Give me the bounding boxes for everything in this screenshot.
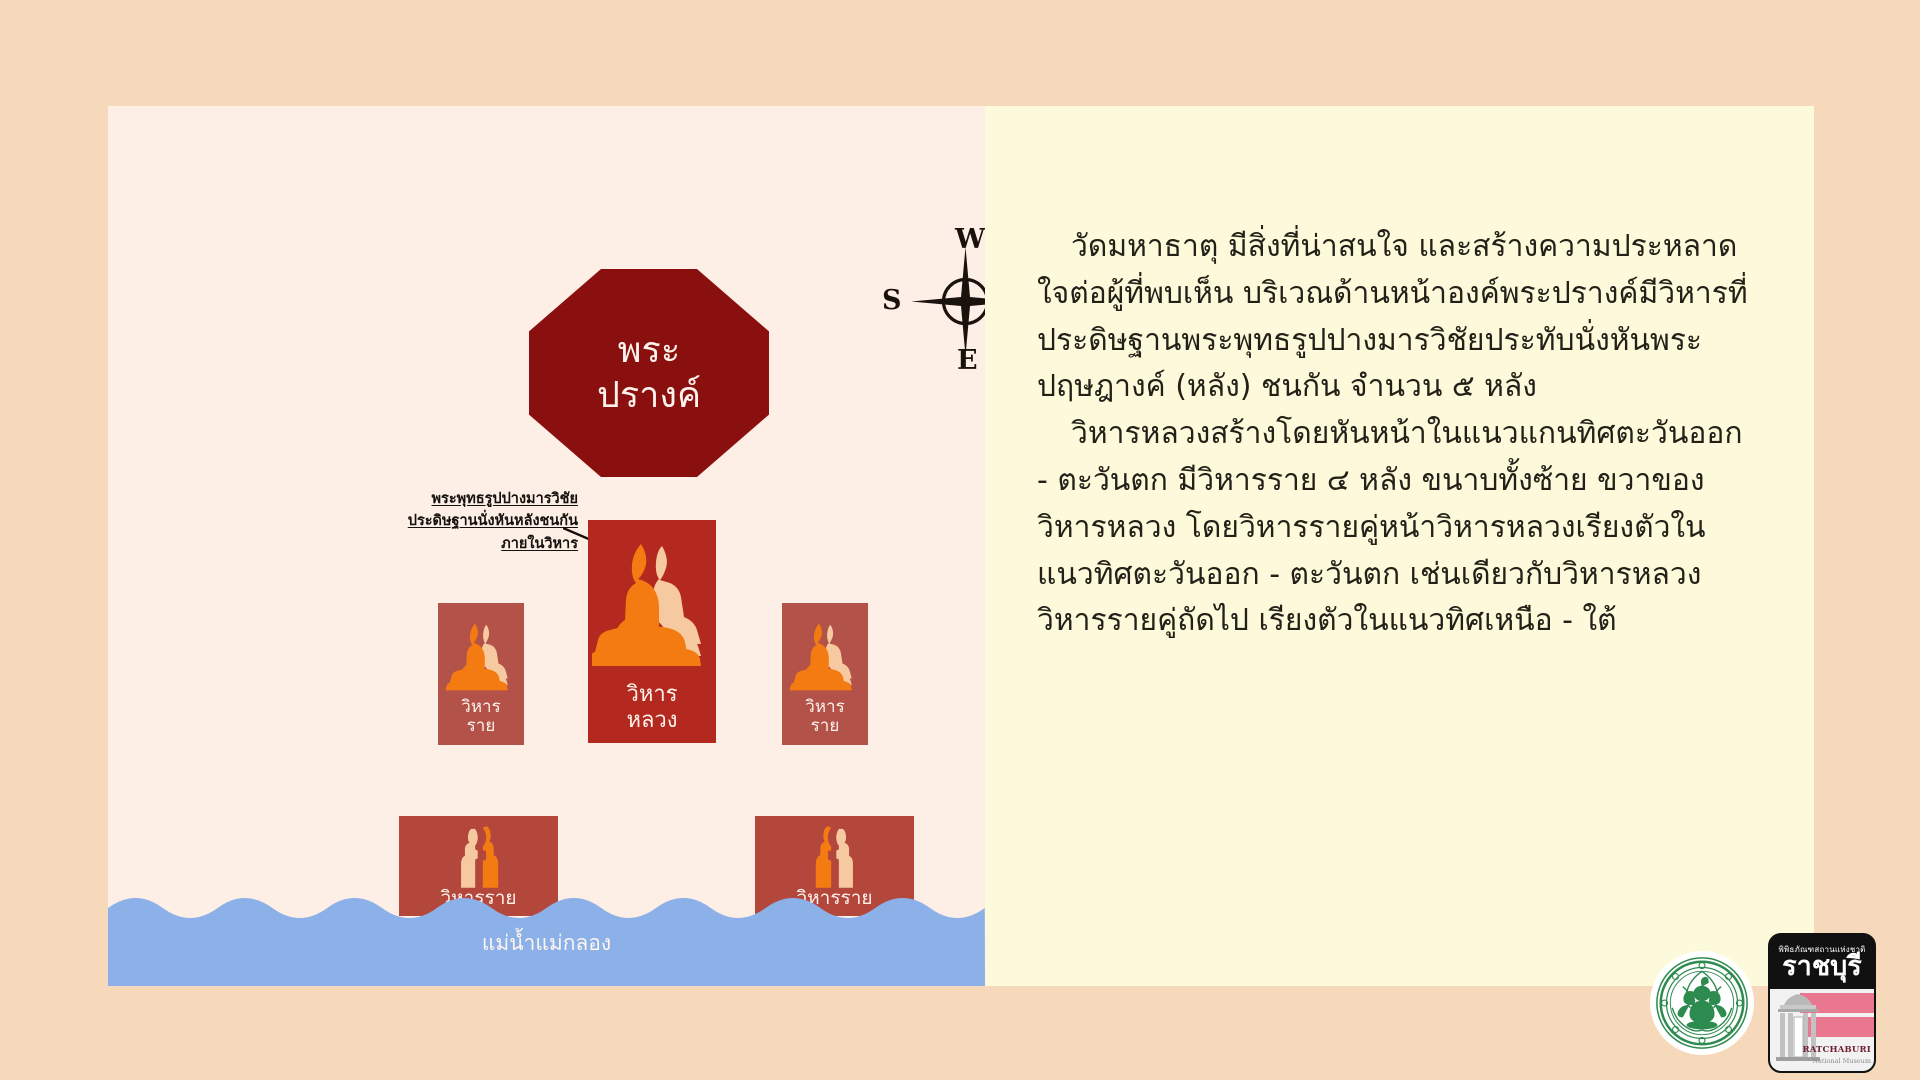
river-label: แม่น้ำแม่กลอง (108, 927, 985, 960)
compass-rose-icon: W S N E (903, 239, 985, 364)
museum-badge-artwork: RATCHABURI National Museum (1770, 989, 1874, 1071)
buddha-pair-standing-icon (399, 816, 558, 888)
vihara-rai-left-label-line1: วิหาร (461, 698, 500, 718)
slide-content: W S N E พระ ปรางค์ พระพุทธรูปปางมารวิชัย… (108, 106, 1814, 986)
paragraph-2: วิหารหลวงสร้างโดยหันหน้าในแนวแกนทิศตะวัน… (1037, 411, 1750, 645)
prang-label-line2: ปรางค์ (597, 373, 701, 418)
compass-label-bottom: E (957, 347, 978, 374)
vihara-rai-right-label: วิหาร ราย (805, 698, 844, 745)
ratchaburi-national-museum-badge: พิพิธภัณฑสถานแห่งชาติ ราชบุรี RATCHABURI (1768, 933, 1876, 1073)
vihara-rai-left-label-line2: ราย (461, 717, 500, 737)
vihara-rai-right-label-line2: ราย (805, 717, 844, 737)
vihara-luang-label: วิหาร หลวง (626, 682, 677, 743)
temple-plan-panel: W S N E พระ ปรางค์ พระพุทธรูปปางมารวิชัย… (108, 106, 985, 986)
annotation-line-1: พระพุทธรูปปางมารวิชัย (432, 491, 579, 507)
vihara-luang-label-line1: วิหาร (626, 682, 677, 707)
buddha-pair-seated-icon (782, 603, 868, 698)
building-vihara-rai-right: วิหาร ราย (782, 603, 868, 745)
vihara-rai-left-label: วิหาร ราย (461, 698, 500, 745)
buddha-annotation: พระพุทธรูปปางมารวิชัย ประดิษฐานนั่งหันหล… (363, 488, 578, 555)
vihara-rai-right-label-line1: วิหาร (805, 698, 844, 718)
compass-label-left: S (882, 287, 902, 314)
buddha-pair-seated-icon (588, 520, 716, 682)
annotation-line-3: ภายในวิหาร (501, 536, 578, 552)
building-vihara-luang: วิหาร หลวง (588, 520, 716, 743)
annotation-line-2: ประดิษฐานนั่งหันหลังชนกัน (408, 513, 578, 529)
description-text-panel: วัดมหาธาตุ มีสิ่งที่น่าสนใจ และสร้างความ… (985, 106, 1814, 986)
vihara-luang-label-line2: หลวง (626, 708, 677, 733)
compass-label-top: W (955, 226, 985, 253)
museum-thai-name: ราชบุรี (1782, 953, 1862, 981)
museum-english-subtitle: National Museum (1812, 1057, 1871, 1065)
fine-arts-department-emblem-icon (1650, 951, 1754, 1055)
building-vihara-rai-left: วิหาร ราย (438, 603, 524, 745)
buddha-pair-standing-icon (755, 816, 914, 888)
paragraph-1: วัดมหาธาตุ มีสิ่งที่น่าสนใจ และสร้างความ… (1037, 224, 1750, 411)
prang-octagon: พระ ปรางค์ (529, 269, 769, 477)
buddha-pair-seated-icon (438, 603, 524, 698)
museum-english-name: RATCHABURI (1802, 1045, 1871, 1055)
museum-badge-header: พิพิธภัณฑสถานแห่งชาติ ราชบุรี (1770, 935, 1874, 989)
logo-group: พิพิธภัณฑสถานแห่งชาติ ราชบุรี RATCHABURI (1650, 930, 1910, 1076)
prang-label-line1: พระ (618, 328, 680, 373)
